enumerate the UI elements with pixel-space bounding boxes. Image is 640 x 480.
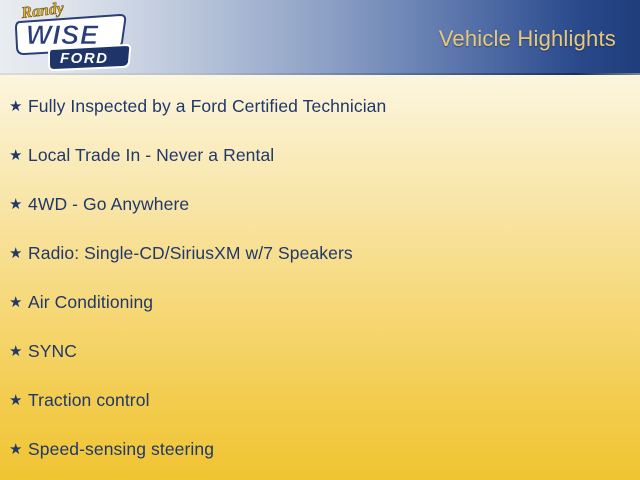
highlight-label: Radio: Single-CD/SiriusXM w/7 Speakers (28, 243, 353, 264)
star-icon: ★ (9, 197, 28, 212)
star-icon: ★ (9, 393, 28, 408)
star-icon: ★ (9, 148, 28, 163)
star-icon: ★ (9, 344, 28, 359)
randy-wise-ford-logo: WISE Randy FORD (8, 2, 133, 73)
highlight-label: Fully Inspected by a Ford Certified Tech… (28, 96, 386, 117)
svg-text:FORD: FORD (60, 50, 109, 67)
list-item: ★ Air Conditioning (0, 278, 640, 327)
svg-text:WISE: WISE (26, 20, 99, 50)
list-item: ★ Local Trade In - Never a Rental (0, 131, 640, 180)
list-item: ★ Radio: Single-CD/SiriusXM w/7 Speakers (0, 229, 640, 278)
list-item: ★ Traction control (0, 376, 640, 425)
star-icon: ★ (9, 99, 28, 114)
list-item: ★ Fully Inspected by a Ford Certified Te… (0, 82, 640, 131)
highlight-label: 4WD - Go Anywhere (28, 194, 189, 215)
header-divider (0, 73, 640, 75)
page-title: Vehicle Highlights (439, 26, 616, 52)
highlight-label: Air Conditioning (28, 292, 153, 313)
vehicle-highlights-list: ★ Fully Inspected by a Ford Certified Te… (0, 82, 640, 474)
highlight-label: Local Trade In - Never a Rental (28, 145, 274, 166)
list-item: ★ Speed-sensing steering (0, 425, 640, 474)
page-header: WISE Randy FORD Vehicle Highlights (0, 0, 640, 73)
highlight-label: SYNC (28, 341, 77, 362)
star-icon: ★ (9, 295, 28, 310)
star-icon: ★ (9, 442, 28, 457)
list-item: ★ 4WD - Go Anywhere (0, 180, 640, 229)
highlight-label: Traction control (28, 390, 150, 411)
highlight-label: Speed-sensing steering (28, 439, 214, 460)
vehicle-highlights-page: WISE Randy FORD Vehicle Highlights ★ Ful… (0, 0, 640, 480)
list-item: ★ SYNC (0, 327, 640, 376)
star-icon: ★ (9, 246, 28, 261)
